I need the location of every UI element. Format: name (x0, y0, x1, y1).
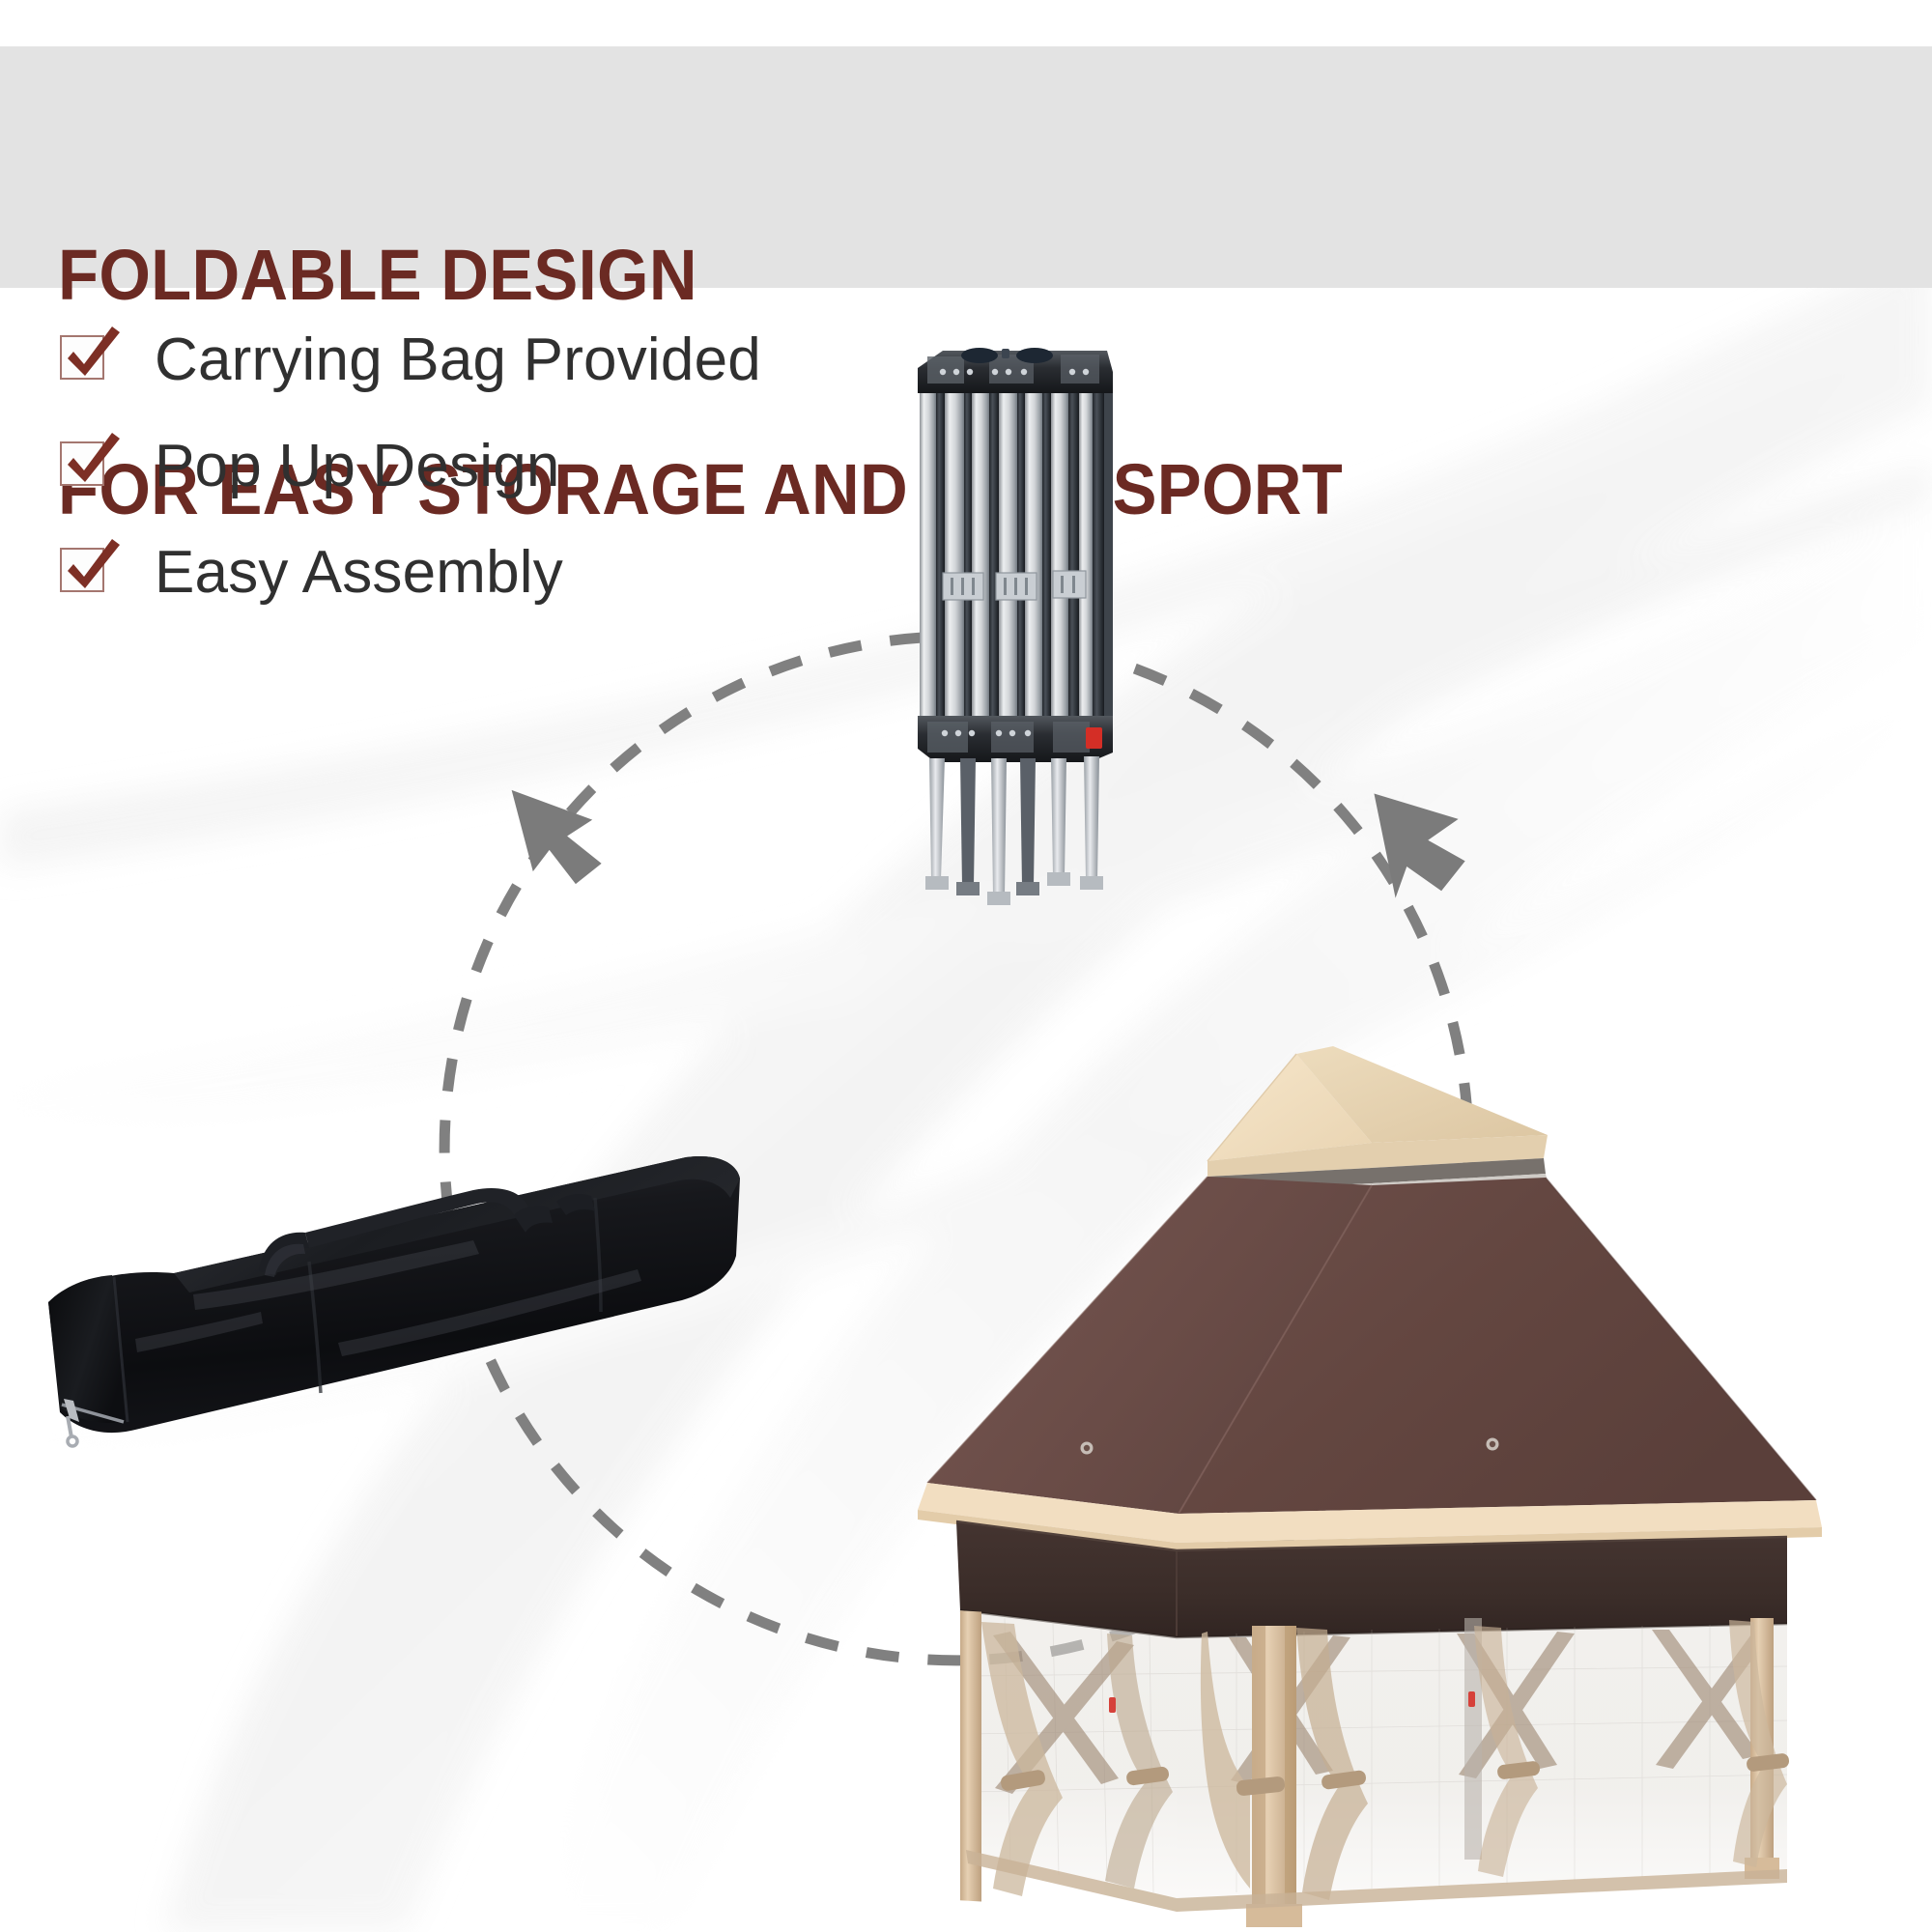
carrying-bag-product-image (19, 1140, 753, 1488)
list-item-label: Pop Up Design (155, 432, 560, 500)
folded-frame-hinges (943, 571, 1086, 600)
folded-frame-legs (925, 756, 1103, 905)
pop-up-gazebo-product-image (918, 1038, 1826, 1932)
arrow-to-folded-frame-icon (507, 769, 610, 895)
bag-end-cap (48, 1275, 126, 1423)
folded-frame-poles (920, 364, 1113, 724)
folded-frame-top-bracket (918, 348, 1113, 393)
gazebo-vent-cap (1207, 1046, 1548, 1203)
arrow-to-gazebo-icon (1360, 794, 1472, 907)
list-item-label: Carrying Bag Provided (155, 326, 761, 394)
page-title-line-1: FOLDABLE DESIGN (58, 240, 1585, 311)
list-item-label: Easy Assembly (155, 538, 563, 607)
checkbox-checked-icon (60, 548, 108, 596)
release-clip-icon (1086, 727, 1102, 749)
bag-body (48, 1156, 740, 1433)
checkbox-checked-icon (60, 441, 108, 490)
folded-frame-bottom-bracket (918, 716, 1113, 762)
folded-frame-product-image (906, 343, 1128, 932)
gazebo-roof (918, 1177, 1822, 1552)
infographic-canvas: FOLDABLE DESIGN FOR EASY STORAGE AND TRA… (0, 0, 1932, 1932)
checkbox-checked-icon (60, 335, 108, 384)
